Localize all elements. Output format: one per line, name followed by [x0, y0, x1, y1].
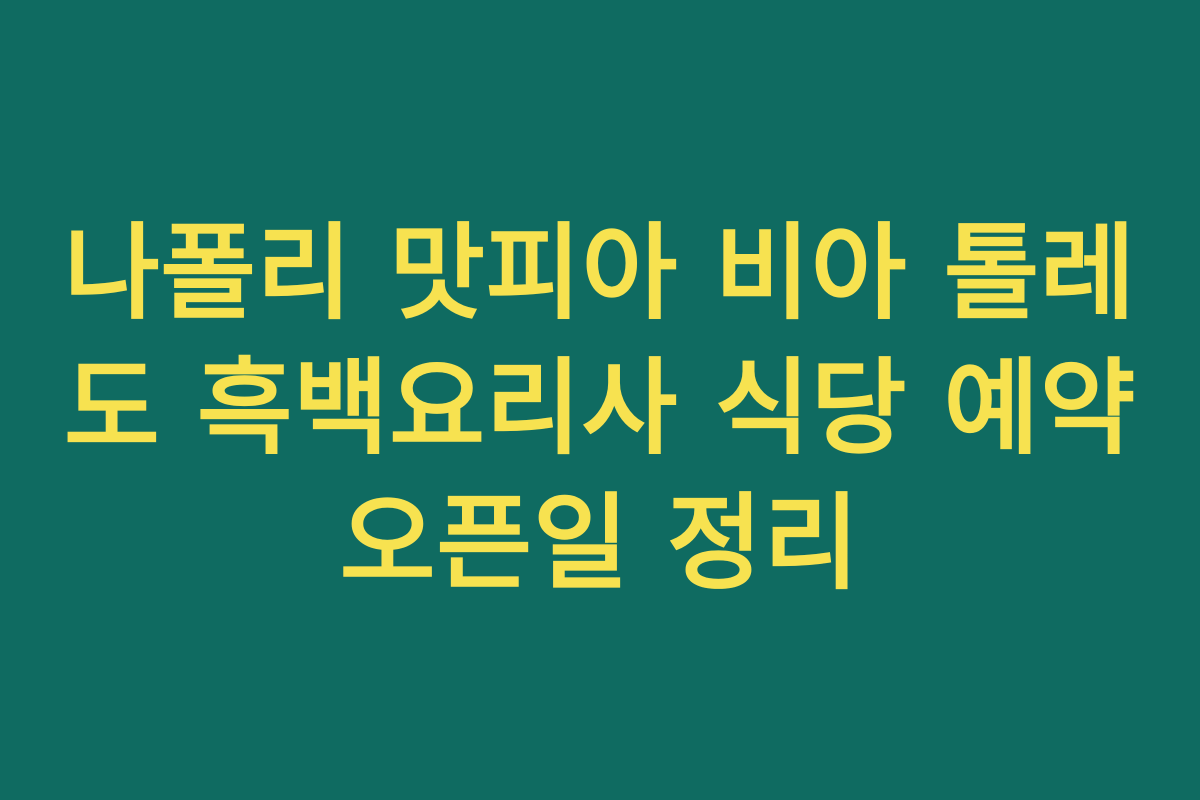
title-line-2: 도 흑백요리사 식당 예약 — [64, 341, 1136, 476]
page-title: 나폴리 맛피아 비아 톨레 도 흑백요리사 식당 예약 오픈일 정리 — [70, 206, 1130, 611]
title-line-1: 나폴리 맛피아 비아 톨레 — [64, 206, 1136, 341]
thumbnail-canvas: 나폴리 맛피아 비아 톨레 도 흑백요리사 식당 예약 오픈일 정리 — [0, 0, 1200, 800]
title-line-3: 오픈일 정리 — [340, 476, 861, 611]
